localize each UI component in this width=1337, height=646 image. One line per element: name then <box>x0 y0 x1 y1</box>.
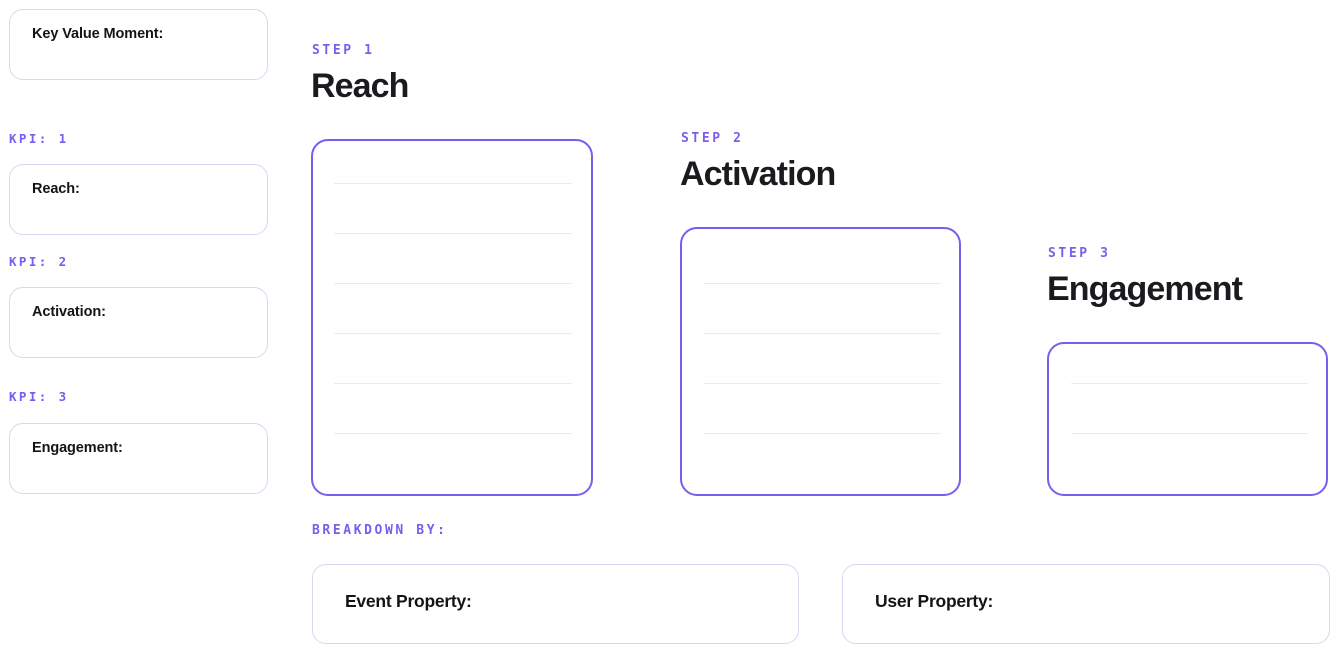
rule-line <box>1071 433 1308 434</box>
breakdown-kicker: BREAKDOWN BY: <box>312 524 448 537</box>
rule-line <box>334 183 572 184</box>
step-3-kicker: STEP 3 <box>1048 247 1111 260</box>
rule-line <box>334 333 572 334</box>
rule-line <box>704 283 941 284</box>
rule-line <box>334 433 572 434</box>
step-1-kicker: STEP 1 <box>312 44 375 57</box>
user-property-card[interactable]: User Property: <box>842 564 1330 644</box>
rule-line <box>704 333 941 334</box>
step-3-title: Engagement <box>1047 272 1242 306</box>
worksheet-canvas: Key Value Moment: KPI: 1 Reach: KPI: 2 A… <box>0 0 1337 646</box>
step-1-title: Reach <box>311 69 409 103</box>
rule-line <box>704 383 941 384</box>
event-property-label: Event Property: <box>345 591 472 612</box>
step-2-notes-card[interactable] <box>680 227 961 496</box>
breakdown-section: BREAKDOWN BY: Event Property: User Prope… <box>0 510 1337 646</box>
rule-line <box>334 283 572 284</box>
funnel-steps: STEP 1 Reach STEP 2 Activation STEP 3 En… <box>0 0 1337 510</box>
event-property-card[interactable]: Event Property: <box>312 564 799 644</box>
rule-line <box>334 383 572 384</box>
rule-line <box>334 233 572 234</box>
step-3-notes-card[interactable] <box>1047 342 1328 496</box>
user-property-label: User Property: <box>875 591 993 612</box>
rule-line <box>704 433 941 434</box>
step-2-kicker: STEP 2 <box>681 132 744 145</box>
step-1-notes-card[interactable] <box>311 139 593 496</box>
rule-line <box>1071 383 1308 384</box>
step-2-title: Activation <box>680 157 835 191</box>
